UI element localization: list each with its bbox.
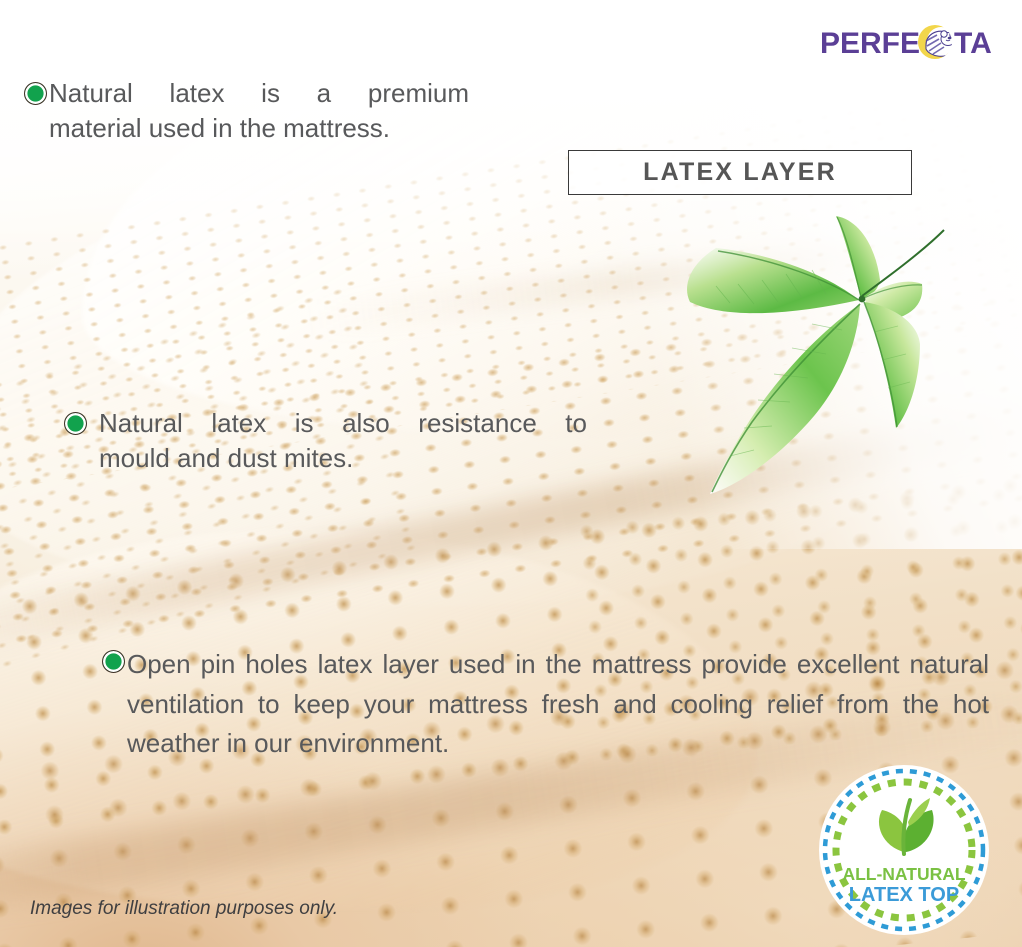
bullet-2-line-2: mould and dust mites. xyxy=(99,443,353,473)
latex-layer-title-box: LATEX LAYER xyxy=(568,150,912,195)
page-title: LATEX LAYER xyxy=(643,158,837,187)
photo-right-white-fade xyxy=(572,0,1022,549)
logo-text-before: PERFE xyxy=(820,27,920,60)
bullet-3-text: Open pin holes latex layer used in the m… xyxy=(127,645,989,764)
logo-text-after: TA xyxy=(954,27,992,60)
green-dot-bullet-icon xyxy=(64,412,87,435)
green-dot-bullet-icon xyxy=(102,650,125,673)
bullet-1-line-1: Natural latex is a premium xyxy=(49,76,469,111)
green-dot-bullet-icon xyxy=(24,82,47,105)
latex-layer-poster: PERFE TA LATEX LAYER Natural latex is a … xyxy=(0,0,1022,947)
bullet-2-line-1: Natural latex is also resistance to xyxy=(99,406,587,441)
bullet-item-1: Natural latex is a premiummaterial used … xyxy=(24,76,524,145)
bullet-item-3: Open pin holes latex layer used in the m… xyxy=(102,645,1004,764)
all-natural-latex-top-badge: ALL-NATURAL LATEX TOP xyxy=(818,764,990,936)
badge-line-2: LATEX TOP xyxy=(849,884,959,906)
bullet-2-text: Natural latex is also resistance tomould… xyxy=(99,406,595,475)
bullet-item-2: Natural latex is also resistance tomould… xyxy=(64,406,624,475)
perfecta-logo: PERFE TA xyxy=(820,20,996,66)
bullet-1-line-2: material used in the mattress. xyxy=(49,113,390,143)
bullet-1-text: Natural latex is a premiummaterial used … xyxy=(49,76,477,145)
footer-disclaimer: Images for illustration purposes only. xyxy=(30,898,338,920)
badge-line-1: ALL-NATURAL xyxy=(842,864,965,884)
